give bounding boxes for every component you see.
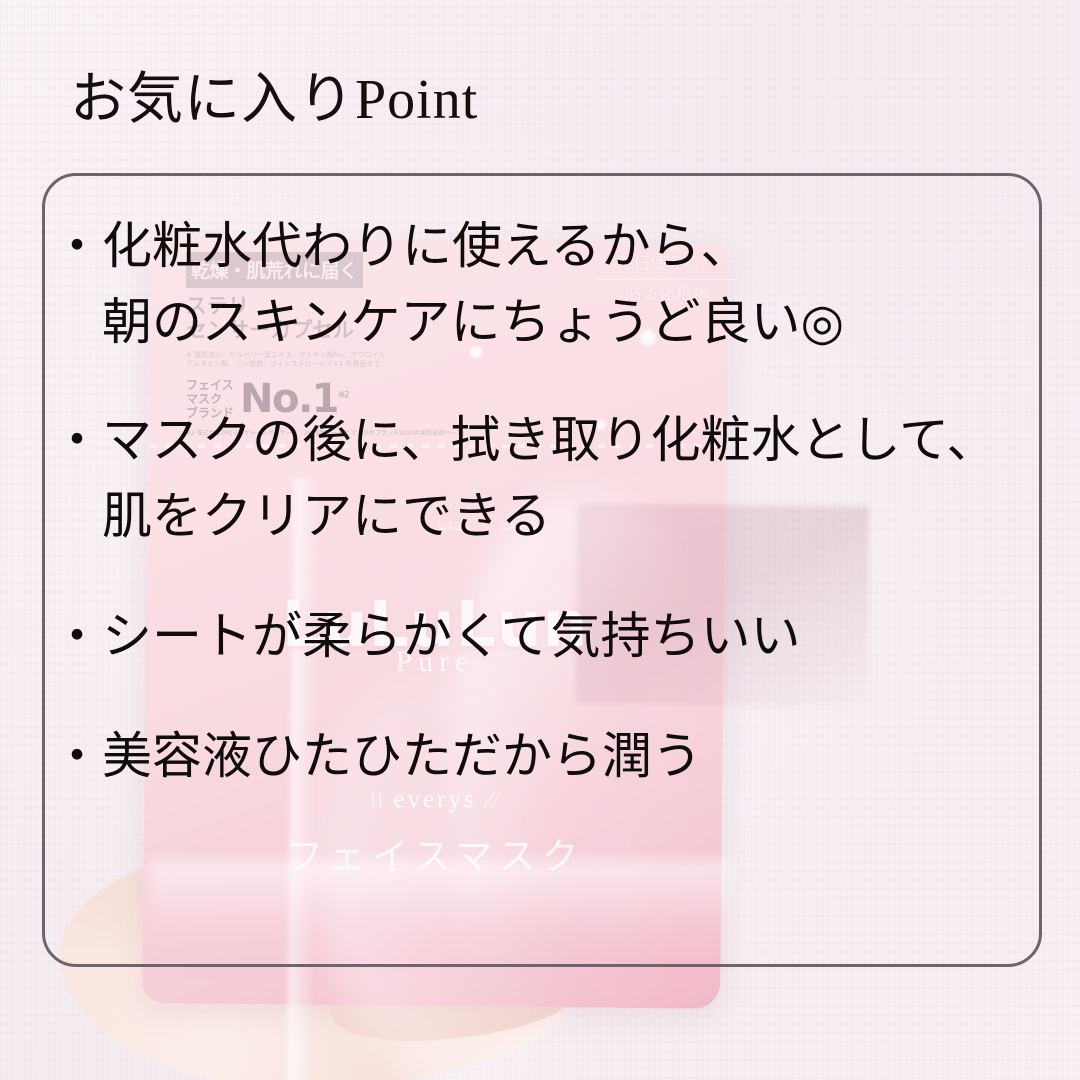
list-item: ・化粧水代わりに使えるから、 朝のスキンケアにちょうど良い◎	[46, 208, 1056, 360]
screenshot-canvas: 乾燥・肌荒れに届く ステリ センサーカプセル ※ 整肌成分：ビルベリー葉エキス、…	[0, 0, 1080, 1080]
page-title: お気に入りPoint	[70, 72, 478, 128]
bullet-line-2: 朝のスキンケアにちょうど良い◎	[52, 293, 844, 351]
bullet-line-1: ・美容液ひたひただから潤う	[52, 727, 702, 785]
bullet-line-1: ・マスクの後に、拭き取り化粧水として、	[52, 411, 997, 469]
list-item: ・シートが柔らかくて気持ちいい	[46, 598, 1056, 674]
list-item: ・マスクの後に、拭き取り化粧水として、 肌をクリアにできる	[46, 402, 1056, 554]
bullet-line-2: 肌をクリアにできる	[52, 487, 551, 545]
bullet-line-1: ・化粧水代わりに使えるから、	[52, 217, 751, 275]
list-item: ・美容液ひたひただから潤う	[46, 718, 1056, 794]
bullet-list: ・化粧水代わりに使えるから、 朝のスキンケアにちょうど良い◎ ・マスクの後に、拭…	[46, 186, 1056, 956]
bullet-line-1: ・シートが柔らかくて気持ちいい	[52, 607, 801, 665]
